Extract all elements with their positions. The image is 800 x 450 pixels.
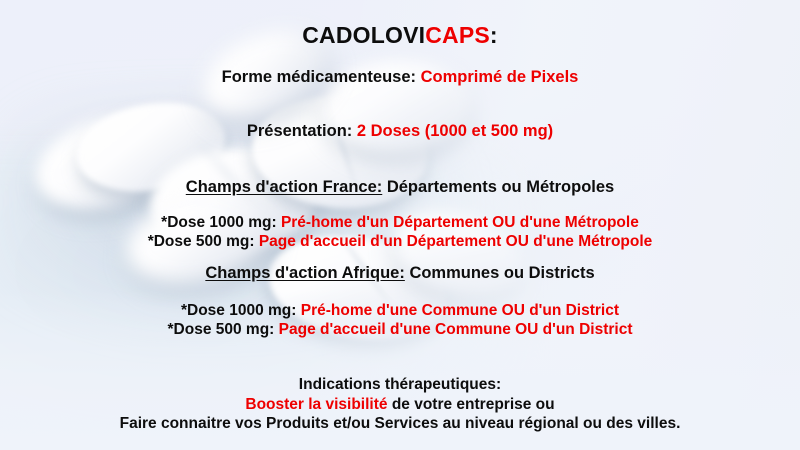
- dose-label: *Dose 1000 mg:: [181, 302, 296, 319]
- dose-value: Pré-home d'un Département OU d'une Métro…: [281, 214, 639, 231]
- dose-label: *Dose 500 mg:: [148, 233, 255, 250]
- dose-label: *Dose 1000 mg:: [161, 214, 276, 231]
- france-scope-heading: Champs d'action France: Départements ou …: [0, 178, 800, 197]
- list-item: *Dose 1000 mg: Pré-home d'un Département…: [0, 213, 800, 232]
- slide-content: CADOLOVICAPS: Forme médicamenteuse: Comp…: [0, 0, 800, 450]
- afrique-scope-label: Champs d'action Afrique:: [205, 264, 405, 282]
- indications-highlight: Booster la visibilité: [245, 396, 387, 413]
- indications-heading: Indications thérapeutiques:: [0, 375, 800, 395]
- dose-value: Pré-home d'une Commune OU d'un District: [301, 302, 619, 319]
- list-item: *Dose 1000 mg: Pré-home d'une Commune OU…: [0, 301, 800, 320]
- indications-line-2: Booster la visibilité de votre entrepris…: [0, 395, 800, 415]
- presentation-row: Présentation: 2 Doses (1000 et 500 mg): [0, 122, 800, 141]
- presentation-value: 2 Doses (1000 et 500 mg): [357, 122, 553, 140]
- dosage-form-label: Forme médicamenteuse:: [222, 68, 416, 86]
- dosage-form-row: Forme médicamenteuse: Comprimé de Pixels: [0, 68, 800, 87]
- indications-block: Indications thérapeutiques: Booster la v…: [0, 375, 800, 434]
- france-scope-label: Champs d'action France:: [186, 178, 382, 196]
- presentation-label: Présentation:: [247, 122, 352, 140]
- list-item: *Dose 500 mg: Page d'accueil d'une Commu…: [0, 320, 800, 339]
- title-brand-red: CAPS: [425, 22, 490, 48]
- title-colon: :: [490, 22, 498, 48]
- page-title: CADOLOVICAPS:: [0, 22, 800, 49]
- title-brand-black: CADOLOVI: [302, 22, 425, 48]
- indications-line-3: Faire connaitre vos Produits et/ou Servi…: [0, 414, 800, 434]
- dose-value: Page d'accueil d'un Département OU d'une…: [259, 233, 652, 250]
- slide-canvas: CADOLOVICAPS: Forme médicamenteuse: Comp…: [0, 0, 800, 450]
- list-item: *Dose 500 mg: Page d'accueil d'un Départ…: [0, 232, 800, 251]
- afrique-scope-value: Communes ou Districts: [409, 264, 594, 282]
- dose-label: *Dose 500 mg:: [168, 321, 275, 338]
- afrique-scope-heading: Champs d'action Afrique: Communes ou Dis…: [0, 264, 800, 283]
- indications-line-2-rest: de votre entreprise ou: [388, 396, 555, 413]
- dosage-form-value: Comprimé de Pixels: [421, 68, 579, 86]
- dose-value: Page d'accueil d'une Commune OU d'un Dis…: [279, 321, 633, 338]
- afrique-dose-list: *Dose 1000 mg: Pré-home d'une Commune OU…: [0, 301, 800, 339]
- france-scope-value: Départements ou Métropoles: [387, 178, 614, 196]
- france-dose-list: *Dose 1000 mg: Pré-home d'un Département…: [0, 213, 800, 251]
